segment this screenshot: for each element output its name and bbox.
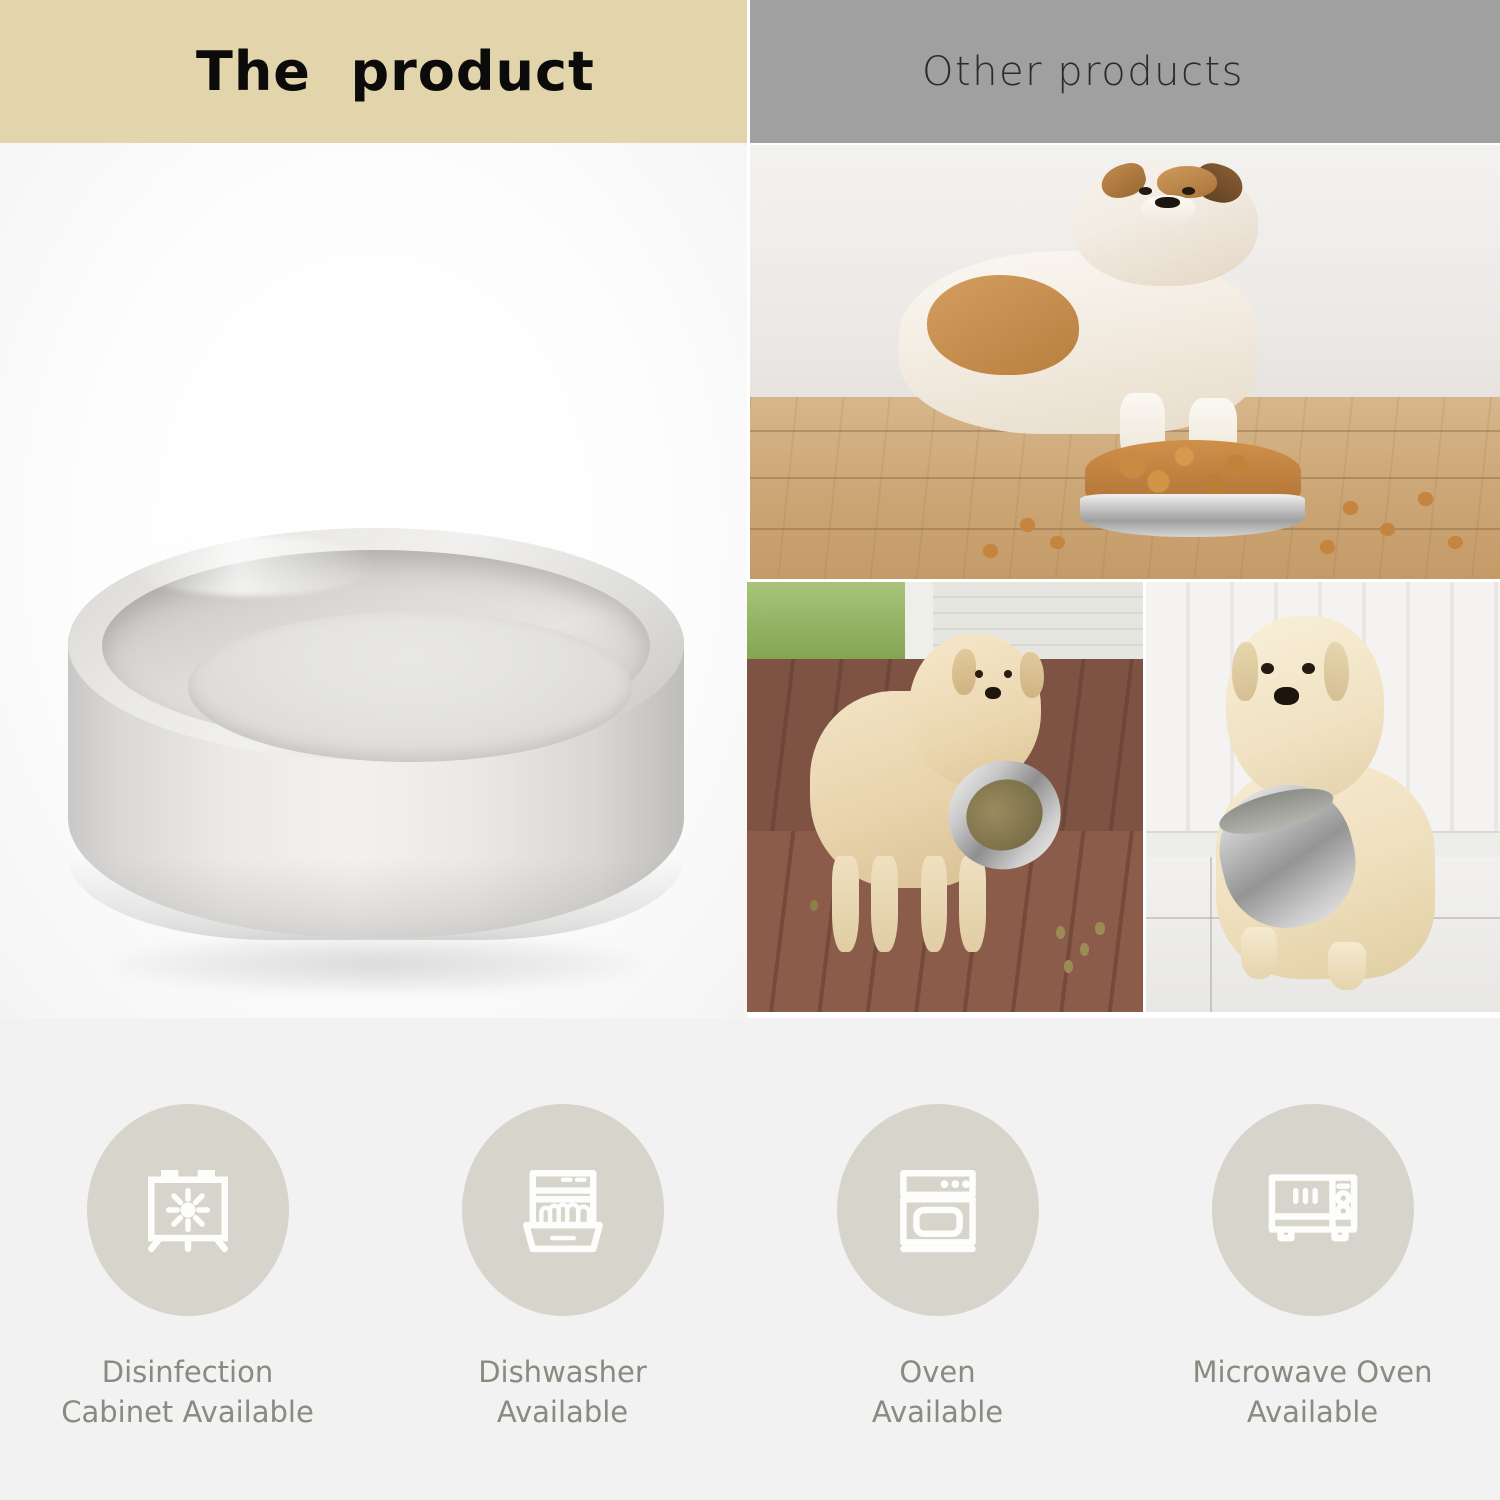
header-left-band: The product — [0, 0, 747, 143]
feature-disinfection-cabinet: Disinfection Cabinet Available — [0, 1018, 375, 1500]
photo1-steel-bowl-with-kibble — [1080, 440, 1305, 535]
bowl-bottom-shading — [68, 858, 684, 940]
photo2-golden-puppy — [810, 634, 1056, 952]
bowl-highlight — [128, 536, 378, 596]
product-photo-ceramic-bowl — [0, 143, 747, 1018]
bowl-rim-outer — [68, 528, 684, 760]
page-title-other-products: Other products — [922, 49, 1244, 95]
photo1-terrier-head — [1072, 162, 1258, 286]
bowl-inner-floor — [188, 612, 632, 762]
features-section: Disinfection Cabinet Available — [0, 1018, 1500, 1500]
feature-dishwasher: Dishwasher Available — [375, 1018, 750, 1500]
feature-label: Microwave Oven Available — [1193, 1352, 1433, 1432]
feature-badge — [87, 1104, 289, 1316]
oven-icon — [884, 1156, 992, 1264]
header-right-band: Other products — [750, 0, 1500, 143]
dishwasher-icon — [509, 1156, 617, 1264]
feature-microwave-oven: Microwave Oven Available — [1125, 1018, 1500, 1500]
page-title-product: The product — [196, 40, 595, 103]
photo-labrador-puppy-carrying-bowl — [1146, 582, 1500, 1012]
ceramic-bowl — [68, 528, 684, 998]
feature-badge — [462, 1104, 664, 1316]
header: The product Other products — [0, 0, 1500, 143]
feature-oven: Oven Available — [750, 1018, 1125, 1500]
feature-badge — [1212, 1104, 1414, 1316]
photo-golden-puppy-carrying-bowl — [747, 582, 1143, 1012]
feature-label: Disinfection Cabinet Available — [61, 1352, 314, 1432]
photo3-labrador-puppy — [1196, 616, 1451, 986]
microwave-oven-icon — [1259, 1156, 1367, 1264]
feature-label: Dishwasher Available — [478, 1352, 647, 1432]
photo1-terrier-patch — [927, 275, 1079, 375]
photo-terrier-with-food-bowl — [750, 145, 1500, 579]
feature-badge — [837, 1104, 1039, 1316]
product-infographic: The product Other products — [0, 0, 1500, 1500]
feature-label: Oven Available — [872, 1352, 1003, 1432]
disinfection-cabinet-icon — [134, 1156, 242, 1264]
product-image-panel — [0, 143, 747, 1018]
other-products-photo-grid — [747, 143, 1500, 1018]
photo1-terrier — [975, 162, 1320, 457]
